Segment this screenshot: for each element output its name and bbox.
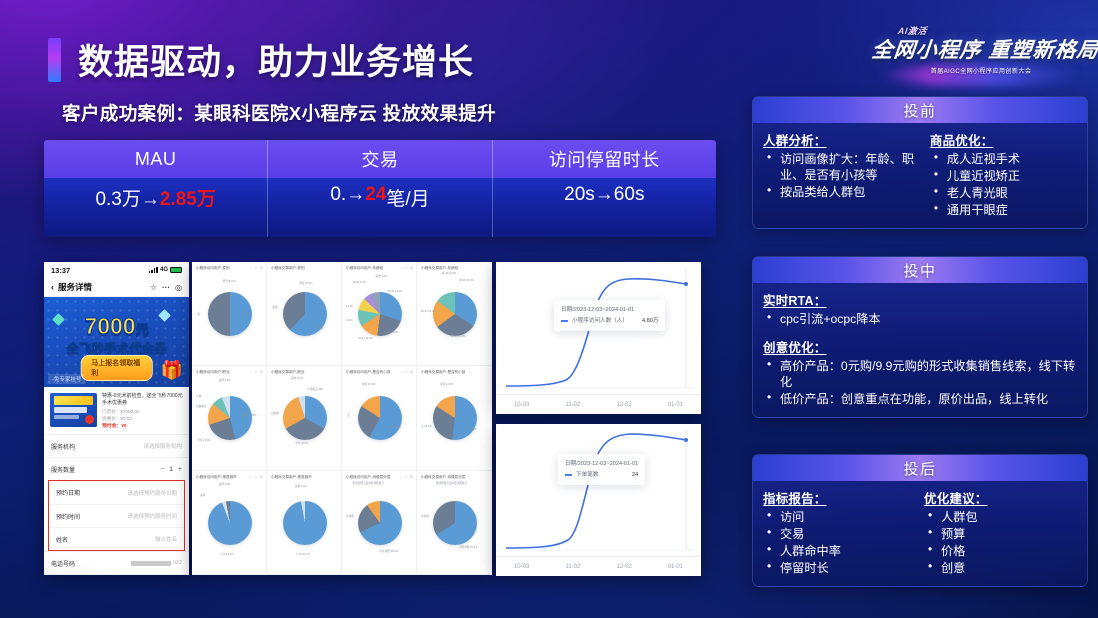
star-icon[interactable]: ☆ [150, 283, 157, 292]
pie-slice-label: 无 [347, 413, 350, 417]
x-tick: 01-01 [650, 564, 701, 570]
pie-slice-label: 31-35 20.0% [384, 331, 399, 334]
tooltip-date: 日期/2023-12-03~2024-01-01 [561, 305, 658, 316]
field-label: 服务数量 [51, 465, 75, 474]
orders-end-point [684, 438, 688, 442]
pie-slice-label: 男性... [318, 326, 325, 330]
masked-value-bar [131, 561, 171, 566]
product-sale-price: 优惠价：¥0.00 [102, 416, 183, 423]
pie-slice-label: 女... [197, 312, 202, 316]
panel-column: 优化建议： 人群包 预算 价格 创意 [924, 488, 1077, 577]
field-value: 请选择预约服务时间 [127, 512, 177, 520]
pie-slice-label: 公司职员 46% [240, 413, 256, 417]
metrics-value-mau: 0.3万→2.85万 [44, 178, 268, 237]
group-list: 访问画像扩大：年龄、职业、是否有小孩等 按品类给人群包 [763, 151, 922, 200]
target-icon[interactable]: ◎ [175, 283, 182, 292]
txn-after: 24 [365, 184, 386, 206]
phone-nav-bar: ‹ 服务详情 ☆ ··· ◎ [44, 278, 189, 297]
field-name[interactable]: 姓名 输入姓名 [49, 527, 184, 550]
list-item: 交易 [763, 526, 916, 542]
pie-slice-label: 个体 [196, 394, 201, 398]
chevron-left-icon[interactable]: ‹ [51, 282, 54, 292]
orders-line-svg [496, 424, 701, 556]
network-label: 4G [160, 267, 168, 273]
pie-slice-label: 其他 4.0% [375, 274, 387, 278]
metrics-header-row: MAU 交易 访问停留时长 [44, 140, 716, 178]
pie-chart-card: 小程序访问用户-年龄段⌕▽⚙25-30 24.0%31-35 20.0%20-2… [342, 262, 417, 366]
series-line-swatch [561, 320, 568, 321]
pie-plot-area: 广州 97.0%其他 3.0% [271, 479, 338, 566]
stepper-minus-button[interactable]: − [160, 466, 164, 473]
product-list-price: 门市价：¥7000.00 [102, 409, 183, 416]
metrics-value-row: 0.3万→2.85万 0.→24笔/月 20s→60s [44, 178, 716, 237]
list-item: 老人青光眼 [930, 185, 1077, 201]
list-item: cpc引流+ocpc降本 [763, 311, 1077, 327]
pie-plot-area: 男性 62.0%女性...男性... [271, 270, 338, 357]
product-thumbnail [50, 393, 97, 427]
tooltip-series: 下单笔数 24 [565, 470, 638, 481]
pie-chart-card: 小程序交易用户-是否有小孩有 52.0%无 32.0%未知 16.0% [417, 366, 492, 470]
series-value: 4.80万 [632, 316, 658, 327]
phone-status-bar: 13:37 4G [44, 262, 189, 278]
pie-slice-label: 20-24 16.0% [358, 337, 373, 340]
panel-heading: 投后 [753, 455, 1087, 481]
pie-slice-label: 有 58.0% [390, 425, 401, 429]
pie-plot-area: 中等消费 68.0%高消费低消费能力及中低消费能力 [346, 479, 413, 566]
pie-chart-card: 小程序交易用户-年龄段25-30 34.0%31-35 31.0%20-24 2… [417, 262, 492, 366]
pie-chart-card: 小程序访问用户-消费层分层⌕▽⚙中等消费 68.0%高消费低消费能力及中低消费能… [342, 471, 417, 575]
orders-trend-chart: 日期/2023-12-03~2024-01-01 下单笔数 24 10-03 1… [496, 424, 701, 576]
group-list: 访问 交易 人群命中率 停留时长 [763, 509, 916, 576]
pie-chart [358, 292, 402, 336]
x-tick: 01-01 [650, 402, 701, 408]
metrics-col-duration: 访问停留时长 [493, 140, 716, 178]
metrics-value-duration: 20s→60s [493, 178, 716, 237]
visits-end-point [684, 282, 688, 286]
pie-plot-area: 男性 50.0%男...女... [196, 270, 263, 357]
panel-post-campaign: 投后 指标报告： 访问 交易 人群命中率 停留时长 优化建议： 人群包 [752, 454, 1088, 587]
phone-product-row: 特惠-0元术前检查，送全飞秒7000元手术优惠券 门市价：¥7000.00 优惠… [44, 387, 189, 434]
field-value: 请选择预约服务日期 [127, 489, 177, 497]
mau-after: 2.85万 [160, 184, 216, 211]
banner-amount: 7000元 [44, 313, 189, 340]
pie-chart-card: 小程序访问用户-是否有小孩⌕▽⚙有 58.0%无未知 16.0% [342, 366, 417, 470]
list-item: 访问画像扩大：年龄、职业、是否有小孩等 [763, 151, 922, 183]
field-appointment-date[interactable]: 预约日期 请选择预约服务日期 [49, 481, 184, 504]
pie-slice-label: 男性 62.0% [299, 281, 312, 285]
list-item: 成人近视手术 [930, 151, 1077, 167]
pie-slice-label: 31-35 31.0% [451, 335, 466, 338]
group-title: 实时RTA： [763, 290, 1077, 309]
logo-main-text: 全网小程序 重塑新格局 [870, 34, 1091, 64]
field-value: 922 [131, 560, 182, 566]
pie-slice-label: 公司职员 33% [307, 387, 323, 391]
product-prepay: 预付金：¥0 [102, 423, 183, 430]
pie-slice-label: 广州 97.0% [296, 552, 309, 556]
group-list: 人群包 预算 价格 创意 [924, 509, 1077, 576]
banner-cta-button[interactable]: 马上报名领取福利 [80, 355, 153, 381]
panel-column: 人群分析： 访问画像扩大：年龄、职业、是否有小孩等 按品类给人群包 [763, 130, 922, 219]
pie-chart [433, 501, 477, 545]
field-label: 电话号码 [51, 559, 75, 568]
pie-slice-label: 自由职... [271, 411, 281, 415]
list-item: 价格 [924, 543, 1077, 559]
x-tick: 12-02 [599, 402, 650, 408]
pie-plot-area: 25-30 34.0%31-35 31.0%20-24 20.0%36-40 1… [421, 270, 489, 357]
signal-icon [149, 267, 158, 273]
pie-chart-card: 小程序交易用户-职业公司职员 33%学生 34.0%自由职...其他 5.0% [267, 366, 342, 470]
list-item: 预算 [924, 526, 1077, 542]
x-tick: 10-03 [496, 402, 547, 408]
slide-canvas: 数据驱动，助力业务增长 客户成功案例：某眼科医院X小程序云 投放效果提升 AI激… [0, 0, 1098, 618]
visits-x-axis: 10-03 11-02 12-02 01-01 [496, 394, 701, 414]
pie-chart [283, 396, 327, 440]
stepper-plus-button[interactable]: + [178, 466, 182, 473]
phone-promo-banner[interactable]: 7000元 全飞秒手术代金券 马上报名领取福利 -免专家挂号 🎁 [44, 297, 189, 387]
page-title: 数据驱动，助力业务增长 [78, 34, 474, 85]
group-title: 商品优化： [930, 130, 1077, 149]
phone-footer: 立即抢购 [44, 574, 189, 575]
phone-clock: 13:37 [51, 266, 70, 275]
orders-tooltip: 日期/2023-12-03~2024-01-01 下单笔数 24 [558, 454, 645, 485]
pie-slice-label: 41-45 [346, 305, 353, 308]
pie-plot-area: 25-30 24.0%31-35 20.0%20-24 16.0%36-4041… [346, 270, 413, 357]
series-value: 24 [622, 470, 638, 481]
visits-tooltip: 日期/2023-12-03~2024-01-01 小程序访问人数（人） 4.80… [554, 300, 665, 331]
pie-chart-card: 小程序访问用户-职业⌕▽⚙公司职员 46%学生 24.0%自由职业个体其他 6.… [192, 366, 267, 470]
pie-chart [358, 396, 402, 440]
pie-slice-label: 未知 16.0% [362, 382, 375, 386]
pie-chart [433, 292, 477, 336]
panel-body: 人群分析： 访问画像扩大：年龄、职业、是否有小孩等 按品类给人群包 商品优化： … [753, 123, 1087, 228]
list-item: 人群命中率 [763, 543, 916, 559]
pie-chart [358, 501, 402, 545]
list-item: 通用干眼症 [930, 202, 1077, 218]
mau-before: 0.3万→ [95, 184, 159, 211]
pie-slice-label: 其他 3.0% [295, 484, 307, 488]
group-list: 成人近视手术 儿童近视矫正 老人青光眼 通用干眼症 [930, 151, 1077, 218]
tooltip-date: 日期/2023-12-03~2024-01-01 [565, 459, 638, 470]
x-tick: 11-02 [547, 564, 598, 570]
field-service-qty[interactable]: 服务数量 − 1 + [44, 457, 189, 480]
pie-slice-label: 其他 5.0% [291, 376, 303, 380]
group-title: 优化建议： [924, 488, 1077, 507]
metrics-value-transaction: 0.→24笔/月 [268, 178, 492, 237]
orders-chart-plot: 日期/2023-12-03~2024-01-01 下单笔数 24 [496, 424, 701, 556]
panel-heading: 投前 [753, 97, 1087, 123]
field-label: 预约时间 [56, 512, 80, 521]
pie-slice-label: 20-24 20.0% [421, 310, 436, 313]
analytics-dashboard: 小程序访问用户-性别⌕▽⚙男性 50.0%男...女...小程序交易用户-性别男… [192, 262, 492, 575]
pie-chart [208, 501, 252, 545]
list-item: 儿童近视矫正 [930, 168, 1077, 184]
group-title: 指标报告： [763, 488, 916, 507]
field-label: 姓名 [56, 535, 68, 544]
highlighted-form-fields: 预约日期 请选择预约服务日期 预约时间 请选择预约服务时间 姓名 输入姓名 [48, 480, 185, 551]
pie-slice-label: 其他 6.0% [219, 378, 231, 382]
list-item: 访问 [763, 509, 916, 525]
pie-slice-label: 未知 16.0% [440, 382, 453, 386]
stepper-value: 1 [169, 466, 173, 473]
pie-plot-area: 广州 94.0%其他 3.0%深圳 [196, 479, 263, 566]
pie-slice-label: 中等消费 68.0% [380, 549, 398, 553]
field-label: 预约日期 [56, 488, 80, 497]
pie-plot-area: 公司职员 46%学生 24.0%自由职业个体其他 6.0% [196, 375, 263, 462]
x-tick: 12-02 [599, 564, 650, 570]
pie-slice-label: 深圳 [200, 493, 205, 497]
panel-pre-campaign: 投前 人群分析： 访问画像扩大：年龄、职业、是否有小孩等 按品类给人群包 商品优… [752, 96, 1088, 229]
pie-slice-label: 中等消费 66.0% [459, 545, 477, 549]
battery-icon [170, 267, 182, 273]
field-value: 输入姓名 [155, 535, 177, 543]
panel-during-campaign: 投中 实时RTA： cpc引流+ocpc降本 创意优化： 高价产品：0元购/9.… [752, 256, 1088, 418]
pie-slice-label: 男... [246, 312, 251, 316]
logo-subtitle: 首届AIGC全网小程序应用创新大会 [872, 66, 1090, 75]
pie-chart-grid: 小程序访问用户-性别⌕▽⚙男性 50.0%男...女...小程序交易用户-性别男… [192, 262, 492, 575]
field-appointment-time[interactable]: 预约时间 请选择预约服务时间 [49, 504, 184, 527]
panel-heading: 投中 [753, 257, 1087, 283]
phone-nav-title: 服务详情 [58, 281, 92, 293]
tooltip-series: 小程序访问人数（人） 4.80万 [561, 316, 658, 327]
metrics-col-mau: MAU [44, 140, 268, 178]
metrics-col-transaction: 交易 [268, 140, 492, 178]
panel-body: 实时RTA： cpc引流+ocpc降本 创意优化： 高价产品：0元购/9.9元购… [753, 283, 1087, 417]
series-line-swatch [565, 474, 572, 475]
x-tick: 10-03 [496, 564, 547, 570]
panel-column: 商品优化： 成人近视手术 儿童近视矫正 老人青光眼 通用干眼症 [930, 130, 1077, 219]
series-name: 小程序访问人数（人） [572, 316, 628, 327]
pie-slice-label: 学生 34.0% [295, 441, 308, 445]
page-title-row: 数据驱动，助力业务增长 [48, 34, 474, 85]
pie-slice-label: 自由职业 [196, 404, 206, 408]
field-service-org[interactable]: 服务机构 请选择服务机构 [44, 434, 189, 457]
list-item: 按品类给人群包 [763, 184, 922, 200]
txn-suffix: 笔/月 [386, 184, 429, 211]
quantity-stepper[interactable]: − 1 + [160, 466, 182, 473]
x-tick: 11-02 [547, 402, 598, 408]
series-name: 下单笔数 [576, 470, 598, 481]
panel-group-creative: 创意优化： 高价产品：0元购/9.9元购的形式收集销售线索，线下转化 低价产品：… [763, 337, 1077, 407]
group-title: 创意优化： [763, 337, 1077, 356]
panel-body: 指标报告： 访问 交易 人群命中率 停留时长 优化建议： 人群包 预算 价格 创… [753, 481, 1087, 586]
pie-chart-card: 小程序交易用户-性别男性 62.0%女性...男性... [267, 262, 342, 366]
pie-slice-label: 25-30 24.0% [388, 290, 403, 293]
panel-column: 指标报告： 访问 交易 人群命中率 停留时长 [763, 488, 916, 577]
pie-chart-card: 小程序交易用户-常驻城市广州 97.0%其他 3.0% [267, 471, 342, 575]
group-title: 人群分析： [763, 130, 922, 149]
pie-slice-label: 有 52.0% [466, 427, 477, 431]
group-list: cpc引流+ocpc降本 [763, 311, 1077, 327]
pie-slice-label: 46-50 5.0% [353, 281, 366, 284]
pie-slice-label: 学生 24.0% [197, 438, 210, 442]
txn-before: 0.→ [330, 184, 365, 206]
pie-chart [208, 396, 252, 440]
ellipsis-icon[interactable]: ··· [162, 283, 170, 292]
panel-group-rta: 实时RTA： cpc引流+ocpc降本 [763, 290, 1077, 327]
visits-chart-plot: 日期/2023-12-03~2024-01-01 小程序访问人数（人） 4.80… [496, 262, 701, 394]
pie-slice-label: 36-40 [346, 319, 353, 322]
group-list: 高价产品：0元购/9.9元购的形式收集销售线索，线下转化 低价产品：创意重点在功… [763, 358, 1077, 407]
gift-icon: 🎁 [161, 360, 183, 381]
pie-plot-area: 中等消费 66.0%高消费低消费能力及中低消费能力 [421, 479, 489, 566]
phone-mockup: 13:37 4G ‹ 服务详情 ☆ ··· ◎ 7000元 全飞秒手术代金券 马… [44, 262, 189, 575]
pie-chart-card: 小程序交易用户-消费层分层中等消费 66.0%高消费低消费能力及中低消费能力 [417, 471, 492, 575]
metrics-table: MAU 交易 访问停留时长 0.3万→2.85万 0.→24笔/月 20s→60… [44, 140, 716, 237]
page-subtitle: 客户成功案例：某眼科医院X小程序云 投放效果提升 [62, 100, 496, 126]
list-item: 停留时长 [763, 560, 916, 576]
product-info: 特惠-0元术前检查，送全飞秒7000元手术优惠券 门市价：¥7000.00 优惠… [102, 393, 183, 430]
orders-x-axis: 10-03 11-02 12-02 01-01 [496, 556, 701, 576]
pie-plot-area: 有 58.0%无未知 16.0% [346, 375, 413, 462]
list-item: 人群包 [924, 509, 1077, 525]
product-name: 特惠-0元术前检查，送全飞秒7000元手术优惠券 [102, 393, 183, 408]
list-item: 创意 [924, 560, 1077, 576]
pie-slice-label: 高消费 [421, 514, 429, 518]
pie-slice-label: 36-40 15.0% [441, 272, 456, 275]
pie-slice-label: 低消费能力及中低消费能力 [353, 481, 384, 485]
visits-trend-chart: 日期/2023-12-03~2024-01-01 小程序访问人数（人） 4.80… [496, 262, 701, 414]
field-value: 请选择服务机构 [143, 442, 182, 450]
field-phone-number[interactable]: 电话号码 922 [44, 551, 189, 574]
pie-slice-label: 其他 3.0% [219, 482, 231, 486]
phone-status-icons: 4G [149, 267, 182, 273]
pie-slice-label: 无 32.0% [421, 424, 432, 428]
pie-chart [433, 396, 477, 440]
pie-plot-area: 有 52.0%无 32.0%未知 16.0% [421, 375, 489, 462]
list-item: 低价产品：创意重点在功能，原价出品，线上转化 [763, 391, 1077, 407]
pie-slice-label: 女性... [272, 305, 279, 309]
pie-slice-label: 25-30 34.0% [459, 279, 474, 282]
title-accent-bar [48, 38, 61, 82]
pie-slice-label: 高消费 [346, 514, 354, 518]
pie-slice-label: 低消费能力及中低消费能力 [436, 481, 467, 485]
field-label: 服务机构 [51, 442, 75, 451]
banner-tag: -免专家挂号 [48, 374, 85, 384]
pie-chart-card: 小程序访问用户-性别⌕▽⚙男性 50.0%男...女... [192, 262, 267, 366]
pie-slice-label: 广州 94.0% [220, 552, 233, 556]
pie-chart [283, 501, 327, 545]
pie-slice-label: 男性 50.0% [223, 279, 236, 283]
list-item: 高价产品：0元购/9.9元购的形式收集销售线索，线下转化 [763, 358, 1077, 390]
event-logo: AI激活 全网小程序 重塑新格局 首届AIGC全网小程序应用创新大会 [872, 24, 1090, 88]
pie-plot-area: 公司职员 33%学生 34.0%自由职...其他 5.0% [271, 375, 338, 462]
pie-chart-card: 小程序访问用户-常驻城市⌕▽⚙广州 94.0%其他 3.0%深圳 [192, 471, 267, 575]
